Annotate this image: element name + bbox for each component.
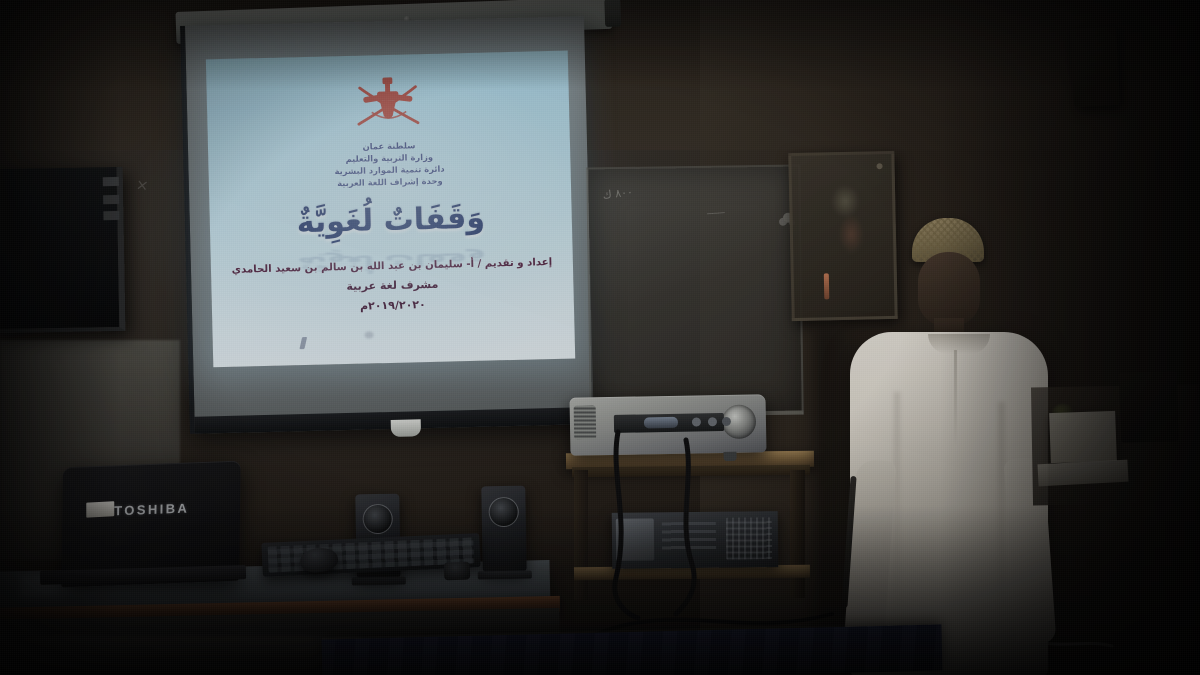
map-tack — [876, 163, 882, 169]
projector-audio-jacks — [692, 417, 701, 426]
classroom-photo-scene: × — [0, 0, 1200, 675]
slide-artifact-mark-b — [365, 331, 374, 338]
whiteboard-scribble-b: ــــــ — [707, 205, 725, 217]
wall-whiteboard: ٨٠٠ ك ــــــ — [586, 165, 803, 418]
whiteboard-scribble-a: ٨٠٠ ك — [602, 185, 634, 201]
projector-port-panel — [614, 413, 724, 433]
slide-organization-block: سلطنة عمان وزارة التربية والتعليم دائرة … — [208, 137, 571, 194]
slide-title: وَقَفَاتٌ لُغَوِيَّةٌ — [209, 198, 572, 242]
slide-credit-block: إعداد و تقديم / أ- سليمان بن عبد الله بن… — [211, 253, 574, 319]
floor-shadow-gradient — [0, 505, 1200, 675]
screen-pull-handle[interactable] — [391, 419, 421, 437]
slide-artifact-mark-a — [299, 337, 307, 349]
map-marker — [824, 273, 830, 299]
top-shadow-gradient — [0, 0, 1200, 90]
projector-vent — [574, 405, 597, 439]
projector-lens — [722, 404, 757, 439]
projected-slide: سلطنة عمان وزارة التربية والتعليم دائرة … — [206, 51, 575, 368]
projector-foot — [723, 452, 736, 461]
projector — [570, 394, 767, 455]
wall-mark: × — [135, 175, 150, 195]
projector-vga-port — [644, 417, 678, 429]
